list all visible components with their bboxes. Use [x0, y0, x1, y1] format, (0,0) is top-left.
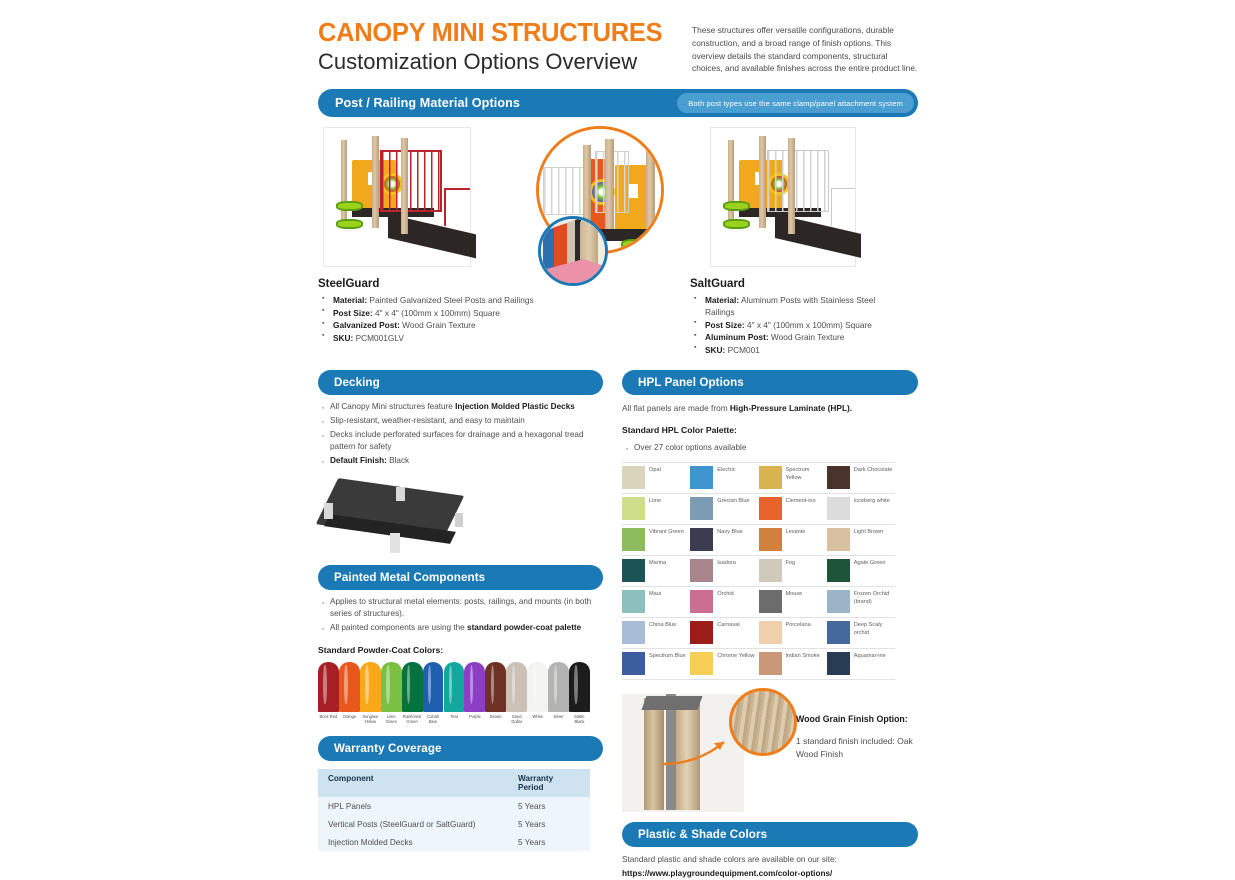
main-columns: Decking All Canopy Mini structures featu… [318, 370, 918, 880]
powdercoat-label: White [527, 714, 548, 719]
powdercoat-swatch: White [527, 662, 548, 725]
hpl-color-cell: Lime [622, 494, 690, 524]
powdercoat-color-chip [381, 662, 402, 712]
wood-grain-title: Wood Grain Finish Option: [796, 714, 916, 726]
hpl-color-label: Frozen Orchid (brand) [854, 590, 893, 605]
plastic-shade-line1: Standard plastic and shade colors are av… [622, 854, 918, 867]
powdercoat-label: Orange [339, 714, 360, 719]
powdercoat-label: Rainforest Green [402, 714, 423, 724]
hpl-color-cell: Electric [690, 463, 758, 493]
powdercoat-swatch: Brick Red [318, 662, 339, 725]
hpl-color-palette: OpalElectricSpectrum YellowDark Chocolat… [622, 462, 895, 680]
cell-component: Vertical Posts (SteelGuard or SaltGuard) [318, 815, 508, 833]
post-specs: SteelGuard Material: Painted Galvanized … [318, 278, 918, 356]
powdercoat-swatch: Sunglow Yellow [360, 662, 381, 725]
palette-row: MarinaIsadoraFogAgate Green [622, 556, 895, 587]
powdercoat-label: Purple [464, 714, 485, 719]
palette-row: OpalElectricSpectrum YellowDark Chocolat… [622, 462, 895, 494]
plastic-shade-bar: Plastic & Shade Colors [622, 822, 918, 847]
list-item: Default Finish: Black [330, 455, 603, 467]
list-item: Decks include perforated surfaces for dr… [330, 429, 603, 454]
hpl-intro: All flat panels are made from High-Press… [622, 402, 918, 414]
hpl-color-cell: Chrome Yellow [690, 649, 758, 679]
saltguard-title: SaltGuard [690, 278, 904, 290]
page-subtitle: Customization Options Overview [318, 49, 690, 74]
list-item: Applies to structural metal elements: po… [330, 596, 603, 621]
powdercoat-swatch: Matte Black [569, 662, 590, 725]
hpl-color-chip [622, 590, 645, 613]
hpl-color-cell: Mouse [759, 587, 827, 617]
hpl-color-label: Clement-ino [786, 497, 816, 505]
arrow-icon [658, 734, 734, 768]
hpl-color-chip [690, 528, 713, 551]
hpl-palette-heading: Standard HPL Color Palette: [622, 425, 918, 435]
list-item: All Canopy Mini structures feature Injec… [330, 401, 603, 413]
hpl-color-cell: Grecian Blue [690, 494, 758, 524]
hpl-color-cell: Fog [759, 556, 827, 586]
post-railing-bar-label: Post / Railing Material Options [335, 96, 520, 110]
detail-zoom-circle-blue [538, 216, 608, 286]
spec-item: SKU: PCM001 [703, 344, 904, 356]
hpl-color-chip [622, 528, 645, 551]
hpl-color-label: Indian Smoke [786, 652, 820, 660]
powdercoat-swatch: Cobalt Blue [423, 662, 444, 725]
plastic-shade-url[interactable]: https://www.playgroundequipment.com/colo… [622, 868, 918, 880]
powdercoat-swatch: Brown [485, 662, 506, 725]
hpl-color-chip [759, 621, 782, 644]
hpl-color-cell: Orchid [690, 587, 758, 617]
list-item: Over 27 color options available [634, 442, 918, 454]
spec-item: Post Size: 4" x 4" (100mm x 100mm) Squar… [703, 319, 904, 331]
hpl-color-chip [690, 621, 713, 644]
infographic-page: CANOPY MINI STRUCTURES Customization Opt… [318, 0, 918, 872]
hpl-color-chip [759, 559, 782, 582]
hpl-color-cell: Indian Smoke [759, 649, 827, 679]
powdercoat-color-chip [360, 662, 381, 712]
saltguard-list: Material: Aluminum Posts with Stainless … [690, 294, 904, 356]
painted-metal-bar: Painted Metal Components [318, 565, 603, 590]
post-railing-section: Post / Railing Material Options Both pos… [318, 89, 918, 356]
hpl-color-cell: Agate Green [827, 556, 895, 586]
cell-period: 5 Years [508, 797, 590, 815]
hpl-color-chip [759, 590, 782, 613]
hpl-color-cell: China Blue [622, 618, 690, 648]
hpl-color-cell: Icceberg white [827, 494, 895, 524]
hpl-color-chip [690, 590, 713, 613]
powdercoat-swatch: Orange [339, 662, 360, 725]
page-title: CANOPY MINI STRUCTURES [318, 20, 690, 47]
header-description: These structures offer versatile configu… [690, 20, 918, 75]
cell-period: 5 Years [508, 833, 590, 851]
column-header-period: Warranty Period [508, 769, 590, 797]
powdercoat-label: Sunglow Yellow [360, 714, 381, 724]
palette-row: LimeGrecian BlueClement-inoIcceberg whit… [622, 494, 895, 525]
spec-item: Aluminum Post: Wood Grain Texture [703, 331, 904, 343]
hpl-color-chip [827, 590, 850, 613]
hpl-color-chip [827, 652, 850, 675]
powdercoat-swatch: Purple [464, 662, 485, 725]
powdercoat-color-chip [548, 662, 569, 712]
steelguard-image [323, 127, 471, 267]
hpl-color-cell: Deep Scaly orchid [827, 618, 895, 648]
hpl-color-cell: Navy Blue [690, 525, 758, 555]
warranty-table-body: HPL Panels5 YearsVertical Posts (SteelGu… [318, 797, 590, 851]
powdercoat-row: Brick RedOrangeSunglow YellowLime GreenR… [318, 662, 590, 725]
hpl-color-label: Spectrum Blue [649, 652, 686, 660]
hpl-color-label: Mouse [786, 590, 803, 598]
warranty-table: Component Warranty Period HPL Panels5 Ye… [318, 769, 590, 851]
decking-bar-label: Decking [334, 376, 380, 389]
palette-row: China BlueCarnavalPorcelanaDeep Scaly or… [622, 618, 895, 649]
hpl-color-label: Navy Blue [717, 528, 743, 536]
hpl-color-label: Spectrum Yellow [786, 466, 825, 481]
hpl-color-chip [827, 559, 850, 582]
hpl-color-chip [690, 497, 713, 520]
hpl-color-chip [827, 497, 850, 520]
spec-item: SKU: PCM001GLV [331, 332, 604, 344]
hpl-color-cell: Carnaval [690, 618, 758, 648]
hpl-color-label: Icceberg white [854, 497, 890, 505]
hpl-color-label: Aquamar-ine [854, 652, 886, 660]
hpl-color-chip [690, 466, 713, 489]
column-header-component: Component [318, 769, 508, 797]
powdercoat-color-chip [402, 662, 423, 712]
table-row: Injection Molded Decks5 Years [318, 833, 590, 851]
hpl-color-cell: Marina [622, 556, 690, 586]
header-titles: CANOPY MINI STRUCTURES Customization Opt… [318, 20, 690, 75]
table-row: HPL Panels5 Years [318, 797, 590, 815]
palette-row: MauiOrchidMouseFrozen Orchid (brand) [622, 587, 895, 618]
left-column: Decking All Canopy Mini structures featu… [318, 370, 603, 880]
decking-bar: Decking [318, 370, 603, 395]
hpl-color-chip [827, 528, 850, 551]
wood-grain-detail-circle [729, 688, 797, 756]
hpl-color-label: Electric [717, 466, 735, 474]
plastic-shade-bar-label: Plastic & Shade Colors [638, 828, 767, 841]
hpl-color-cell: Levante [759, 525, 827, 555]
hpl-color-label: Marina [649, 559, 666, 567]
powdercoat-label: Teal [444, 714, 465, 719]
cell-component: HPL Panels [318, 797, 508, 815]
hpl-color-label: Isadora [717, 559, 736, 567]
hpl-color-chip [690, 559, 713, 582]
hpl-color-chip [827, 466, 850, 489]
hpl-color-chip [622, 559, 645, 582]
hpl-color-cell: Opal [622, 463, 690, 493]
painted-metal-list: Applies to structural metal elements: po… [318, 596, 603, 634]
powdercoat-label: Brick Red [318, 714, 339, 719]
hpl-color-cell: Dark Chocolate [827, 463, 895, 493]
hpl-color-cell: Porcelana [759, 618, 827, 648]
powdercoat-color-chip [464, 662, 485, 712]
powdercoat-swatch: Sand Dollar [506, 662, 527, 725]
hpl-color-label: Orchid [717, 590, 733, 598]
hpl-color-chip [759, 497, 782, 520]
hpl-color-cell: Light Brown [827, 525, 895, 555]
hpl-color-label: Vibrant Green [649, 528, 684, 536]
palette-row: Vibrant GreenNavy BlueLevanteLight Brown [622, 525, 895, 556]
spec-item: Material: Painted Galvanized Steel Posts… [331, 294, 604, 306]
hpl-color-cell: Clement-ino [759, 494, 827, 524]
hpl-color-label: Opal [649, 466, 661, 474]
palette-row: Spectrum BlueChrome YellowIndian SmokeAq… [622, 649, 895, 680]
attachment-system-pill: Both post types use the same clamp/panel… [677, 93, 914, 113]
powdercoat-label: Lime Green [381, 714, 402, 724]
list-item: All painted components are using the sta… [330, 622, 603, 634]
wood-grain-block: Wood Grain Finish Option: 1 standard fin… [622, 694, 918, 814]
hpl-color-chip [690, 652, 713, 675]
warranty-bar: Warranty Coverage [318, 736, 603, 761]
hpl-color-label: Carnaval [717, 621, 739, 629]
spec-item: Galvanized Post: Wood Grain Texture [331, 319, 604, 331]
powdercoat-label: Sand Dollar [506, 714, 527, 724]
hpl-color-label: Levante [786, 528, 806, 536]
spec-item: Material: Aluminum Posts with Stainless … [703, 294, 904, 318]
powdercoat-color-chip [485, 662, 506, 712]
product-images [318, 122, 918, 272]
powdercoat-color-chip [444, 662, 465, 712]
powdercoat-color-chip [569, 662, 590, 712]
spec-item: Post Size: 4" x 4" (100mm x 100mm) Squar… [331, 307, 604, 319]
hpl-bar: HPL Panel Options [622, 370, 918, 395]
hpl-bullets: Over 27 color options available [622, 442, 918, 454]
wood-grain-body: 1 standard finish included: Oak Wood Fin… [796, 735, 916, 761]
decking-list: All Canopy Mini structures feature Injec… [318, 401, 603, 467]
right-column: HPL Panel Options All flat panels are ma… [622, 370, 918, 880]
hpl-color-cell: Spectrum Yellow [759, 463, 827, 493]
table-header-row: Component Warranty Period [318, 769, 590, 797]
powdercoat-swatch: Teal [444, 662, 465, 725]
hpl-color-label: Grecian Blue [717, 497, 749, 505]
powdercoat-swatch: Lime Green [381, 662, 402, 725]
powdercoat-swatch: Silver [548, 662, 569, 725]
hpl-color-cell: Vibrant Green [622, 525, 690, 555]
powdercoat-label: Matte Black [569, 714, 590, 724]
hpl-bar-label: HPL Panel Options [638, 376, 744, 389]
hpl-color-chip [622, 466, 645, 489]
hpl-color-chip [622, 652, 645, 675]
hpl-color-label: Chrome Yellow [717, 652, 754, 660]
table-row: Vertical Posts (SteelGuard or SaltGuard)… [318, 815, 590, 833]
hpl-color-chip [827, 621, 850, 644]
warranty-bar-label: Warranty Coverage [334, 742, 442, 755]
page-header: CANOPY MINI STRUCTURES Customization Opt… [318, 0, 918, 75]
cell-component: Injection Molded Decks [318, 833, 508, 851]
powdercoat-color-chip [318, 662, 339, 712]
hpl-color-cell: Aquamar-ine [827, 649, 895, 679]
steelguard-list: Material: Painted Galvanized Steel Posts… [318, 294, 604, 344]
painted-metal-bar-label: Painted Metal Components [334, 571, 485, 584]
decking-product-image [318, 479, 603, 561]
hpl-color-cell: Isadora [690, 556, 758, 586]
powdercoat-swatch: Rainforest Green [402, 662, 423, 725]
hpl-color-label: Fog [786, 559, 796, 567]
hpl-color-cell: Maui [622, 587, 690, 617]
hpl-color-cell: Spectrum Blue [622, 649, 690, 679]
powdercoat-color-chip [506, 662, 527, 712]
hpl-color-label: Porcelana [786, 621, 811, 629]
powdercoat-color-chip [423, 662, 444, 712]
hpl-color-label: Maui [649, 590, 661, 598]
powdercoat-color-chip [527, 662, 548, 712]
powdercoat-heading: Standard Powder-Coat Colors: [318, 645, 603, 655]
hpl-color-cell: Frozen Orchid (brand) [827, 587, 895, 617]
steelguard-spec: SteelGuard Material: Painted Galvanized … [318, 278, 618, 356]
hpl-color-label: Dark Chocolate [854, 466, 893, 474]
list-item: Slip-resistant, weather-resistant, and e… [330, 415, 603, 427]
powdercoat-swatches: Brick RedOrangeSunglow YellowLime GreenR… [318, 662, 590, 725]
hpl-color-chip [759, 652, 782, 675]
powdercoat-label: Cobalt Blue [423, 714, 444, 724]
hpl-color-label: Lime [649, 497, 661, 505]
saltguard-spec: SaltGuard Material: Aluminum Posts with … [618, 278, 918, 356]
hpl-color-chip [622, 621, 645, 644]
hpl-color-label: Agate Green [854, 559, 886, 567]
saltguard-image [710, 127, 856, 267]
powdercoat-label: Brown [485, 714, 506, 719]
post-railing-bar: Post / Railing Material Options Both pos… [318, 89, 918, 117]
hpl-color-chip [759, 466, 782, 489]
powdercoat-label: Silver [548, 714, 569, 719]
wood-grain-text: Wood Grain Finish Option: 1 standard fin… [796, 714, 916, 760]
hpl-color-chip [759, 528, 782, 551]
hpl-color-label: Deep Scaly orchid [854, 621, 893, 636]
hpl-color-label: China Blue [649, 621, 676, 629]
hpl-color-chip [622, 497, 645, 520]
hpl-color-label: Light Brown [854, 528, 884, 536]
powdercoat-color-chip [339, 662, 360, 712]
cell-period: 5 Years [508, 815, 590, 833]
